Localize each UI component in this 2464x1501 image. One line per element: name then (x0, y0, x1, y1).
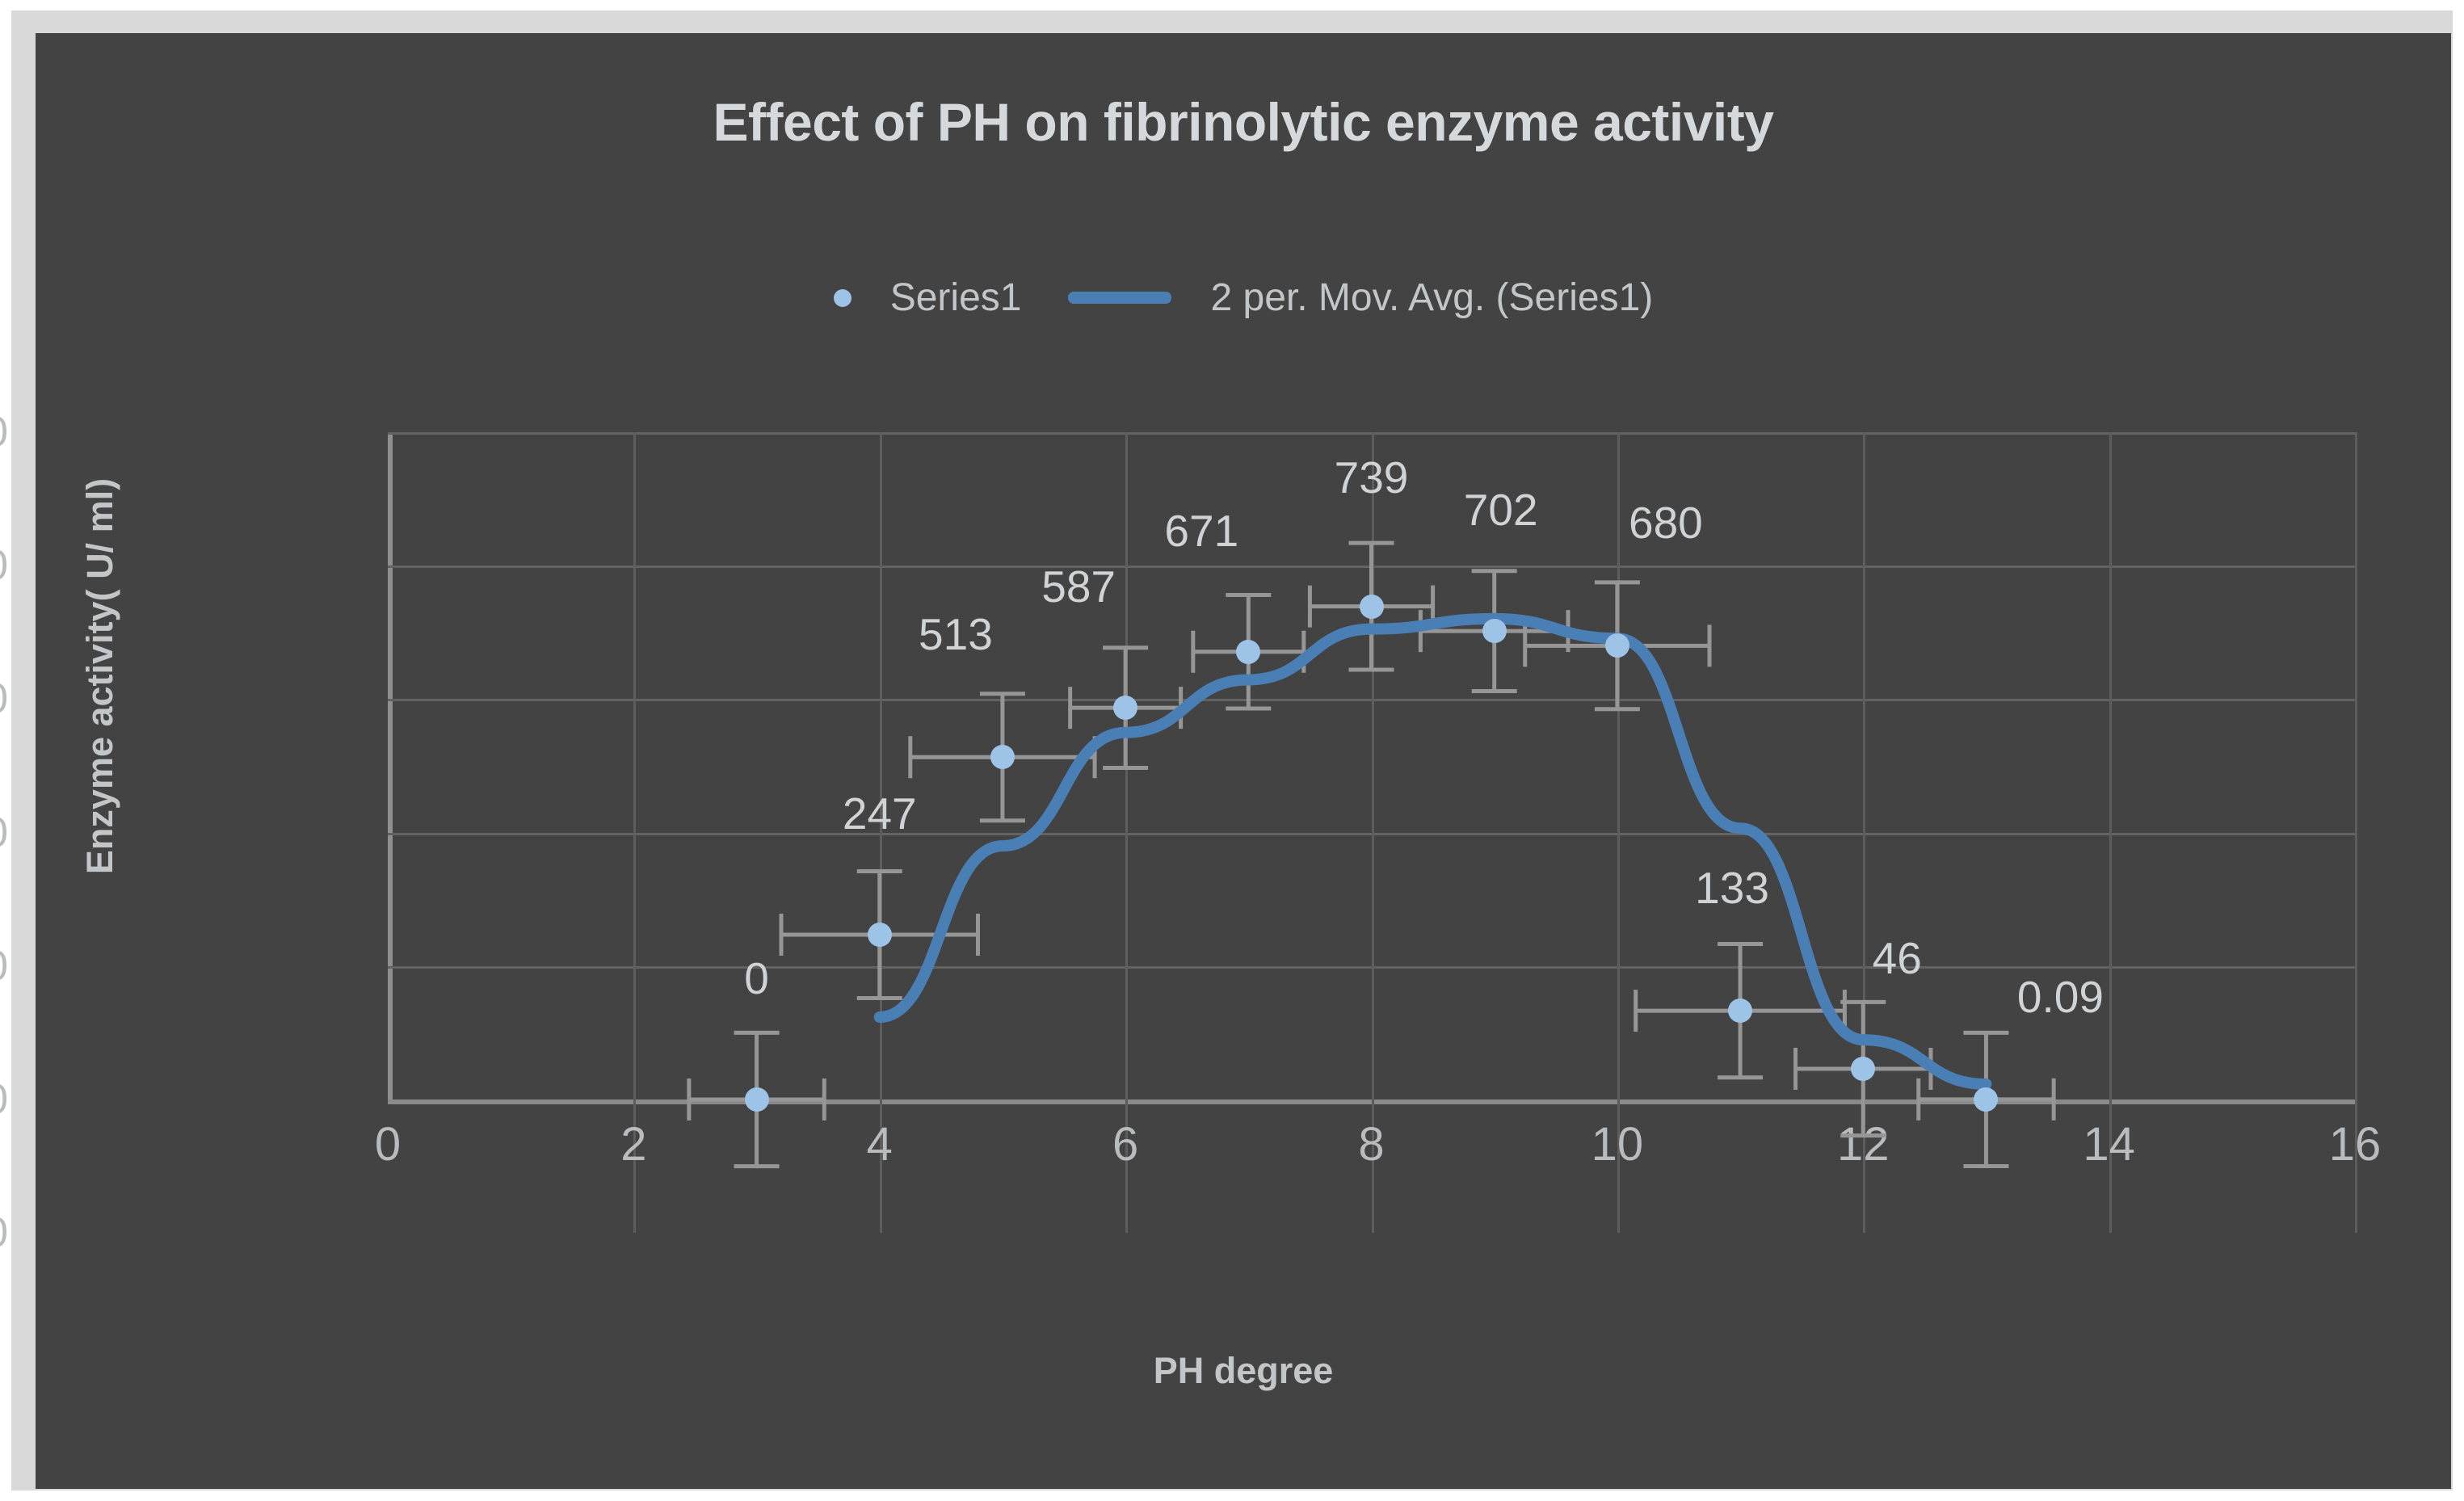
chart-canvas: Effect of PH on fibrinolytic enzyme acti… (36, 33, 2451, 1489)
data-point-label: 739 (1335, 452, 1409, 503)
data-point-marker[interactable] (745, 1087, 769, 1112)
legend-line-icon (1068, 292, 1171, 304)
data-point-label: 0 (744, 952, 769, 1004)
chart-legend: Series1 2 per. Mov. Avg. (Series1) (36, 275, 2451, 320)
y-axis-tick-label: 400 (0, 809, 8, 857)
y-axis-tick-label: 1000 (0, 408, 8, 456)
legend-label-series1: Series1 (890, 275, 1022, 320)
data-point-label: 671 (1164, 505, 1238, 557)
data-point-label: 587 (1041, 561, 1116, 612)
legend-item-moving-average[interactable]: 2 per. Mov. Avg. (Series1) (1068, 275, 1653, 320)
data-point-marker[interactable] (1236, 640, 1260, 664)
data-point-marker[interactable] (1360, 595, 1384, 619)
error-bars (689, 543, 2054, 1166)
trendline-moving-average (880, 619, 1987, 1084)
y-axis-tick-label: 800 (0, 541, 8, 590)
y-axis-tick-label: 600 (0, 675, 8, 723)
y-axis-title: Enzyme activity( U/ ml) (79, 393, 121, 959)
chart-frame: Effect of PH on fibrinolytic enzyme acti… (11, 11, 2453, 1490)
x-axis-title: PH degree (36, 1350, 2451, 1392)
legend-label-moving-average: 2 per. Mov. Avg. (Series1) (1210, 275, 1653, 320)
y-axis-tick-label: 0 (0, 1075, 8, 1124)
data-point-label: 46 (1873, 932, 1922, 984)
data-point-label: 513 (919, 608, 993, 660)
data-point-marker[interactable] (1482, 619, 1507, 643)
chart-title: Effect of PH on fibrinolytic enzyme acti… (36, 91, 2451, 153)
data-point-label: 702 (1464, 484, 1538, 536)
y-axis-tick-label: 200 (0, 942, 8, 990)
data-point-marker[interactable] (868, 923, 892, 947)
data-point-marker[interactable] (1728, 999, 1752, 1023)
data-point-label: 133 (1695, 862, 1769, 914)
legend-dot-icon (834, 289, 851, 307)
chart-vector-layer (388, 432, 2355, 1233)
legend-item-series1[interactable]: Series1 (834, 275, 1022, 320)
plot-area: 10008006004002000-2000246810121416024751… (388, 432, 2355, 1099)
data-point-label: 0.09 (2017, 971, 2104, 1023)
y-axis-tick-label: -200 (0, 1209, 8, 1257)
gridline-vertical (2355, 432, 2357, 1233)
data-point-label: 247 (843, 788, 917, 839)
data-point-marker[interactable] (1605, 633, 1629, 658)
data-point-marker[interactable] (990, 745, 1015, 769)
chart-screenshot: Effect of PH on fibrinolytic enzyme acti… (0, 0, 2464, 1501)
data-point-label: 680 (1629, 497, 1703, 549)
